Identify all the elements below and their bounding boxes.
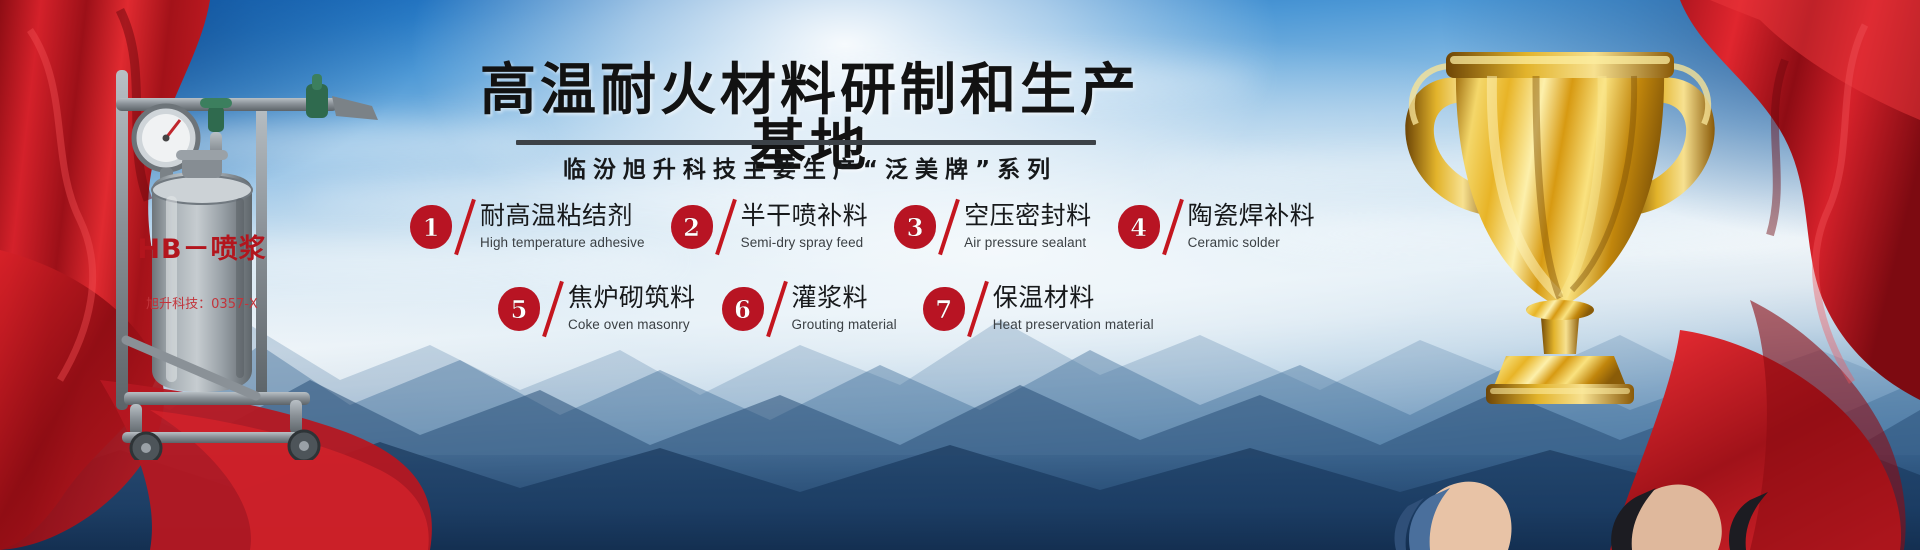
spray-machine-product: HB－喷浆 旭升科技：0357-X — [60, 40, 420, 460]
svg-text:旭升科技：0357-X: 旭升科技：0357-X — [146, 297, 258, 312]
gold-trophy-icon — [1390, 18, 1730, 438]
hands-illustration — [1380, 430, 1800, 550]
promo-banner: HB－喷浆 旭升科技：0357-X 高温耐火材料研制和生产基地 临汾旭升科技主要… — [0, 0, 1920, 550]
svg-text:HB－喷浆: HB－喷浆 — [137, 233, 266, 265]
cloud-wisp — [760, 60, 1260, 100]
